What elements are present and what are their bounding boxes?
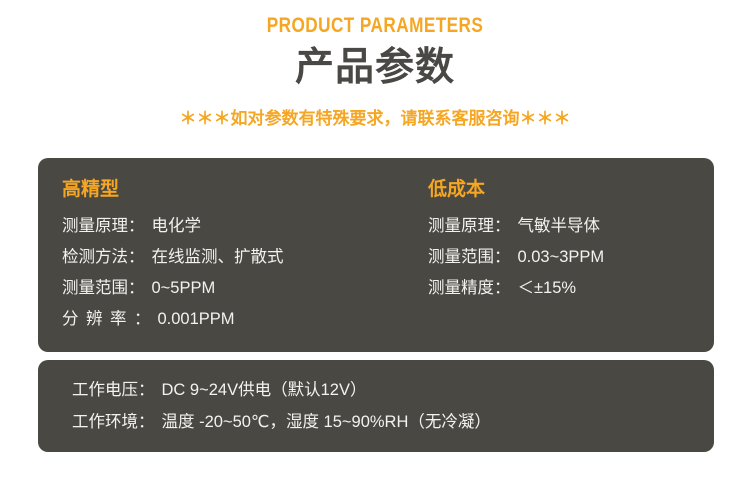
column-heading-low-cost: 低成本 xyxy=(428,177,714,203)
spec-label: 测量范围 xyxy=(428,242,494,273)
spec-value: DC 9~24V供电（默认12V） xyxy=(162,374,367,406)
spec-label: 测量原理 xyxy=(62,211,128,242)
spec-value: ＜±15% xyxy=(518,273,577,304)
spec-label: 分辨率 xyxy=(62,304,134,335)
spec-value: 在线监测、扩散式 xyxy=(152,242,284,273)
spec-value: 0~5PPM xyxy=(152,273,216,304)
spec-colon: ： xyxy=(128,211,152,242)
column-heading-high-precision: 高精型 xyxy=(62,177,428,203)
spec-label: 工作电压 xyxy=(72,374,138,406)
page-header: PRODUCT PARAMETERS 产品参数 ＊＊＊如对参数有特殊要求，请联系… xyxy=(0,0,750,130)
spec-row: 工作环境 ： 温度 -20~50℃，湿度 15~90%RH（无冷凝） xyxy=(72,406,714,438)
spec-value: 温度 -20~50℃，湿度 15~90%RH（无冷凝） xyxy=(162,406,491,438)
spec-colon: ： xyxy=(128,242,152,273)
spec-colon: ： xyxy=(494,242,518,273)
specs-panel: 高精型 测量原理 ： 电化学 检测方法 ： 在线监测、扩散式 测量范围 ： 0~… xyxy=(38,158,714,352)
spec-row: 检测方法 ： 在线监测、扩散式 xyxy=(62,242,428,273)
spec-value: 电化学 xyxy=(152,211,202,242)
page-title: 产品参数 xyxy=(0,44,750,92)
specs-column-high-precision: 高精型 测量原理 ： 电化学 检测方法 ： 在线监测、扩散式 测量范围 ： 0~… xyxy=(38,158,428,352)
spec-colon: ： xyxy=(138,374,162,406)
spec-row: 工作电压 ： DC 9~24V供电（默认12V） xyxy=(72,374,714,406)
spec-row: 测量原理 ： 气敏半导体 xyxy=(428,211,714,242)
spec-colon: ： xyxy=(494,211,518,242)
spec-colon: ： xyxy=(128,273,152,304)
spec-value: 0.001PPM xyxy=(158,304,235,335)
spec-row: 测量原理 ： 电化学 xyxy=(62,211,428,242)
spec-label: 测量范围 xyxy=(62,273,128,304)
spec-label: 测量精度 xyxy=(428,273,494,304)
spec-colon: ： xyxy=(134,304,158,335)
spec-value: 气敏半导体 xyxy=(518,211,601,242)
spec-label: 测量原理 xyxy=(428,211,494,242)
spec-row: 测量范围 ： 0.03~3PPM xyxy=(428,242,714,273)
spec-row: 测量精度 ： ＜±15% xyxy=(428,273,714,304)
spec-colon: ： xyxy=(494,273,518,304)
spec-label: 工作环境 xyxy=(72,406,138,438)
header-eyebrow: PRODUCT PARAMETERS xyxy=(68,14,683,38)
general-conditions-list: 工作电压 ： DC 9~24V供电（默认12V） 工作环境 ： 温度 -20~5… xyxy=(38,360,714,438)
specs-column-low-cost: 低成本 测量原理 ： 气敏半导体 测量范围 ： 0.03~3PPM 测量精度 ：… xyxy=(428,158,714,352)
header-note: ＊＊＊如对参数有特殊要求，请联系客服咨询＊＊＊ xyxy=(0,108,750,130)
general-conditions-panel: 工作电压 ： DC 9~24V供电（默认12V） 工作环境 ： 温度 -20~5… xyxy=(38,360,714,452)
spec-row: 测量范围 ： 0~5PPM xyxy=(62,273,428,304)
specs-columns: 高精型 测量原理 ： 电化学 检测方法 ： 在线监测、扩散式 测量范围 ： 0~… xyxy=(38,158,714,352)
spec-row: 分辨率 ： 0.001PPM xyxy=(62,304,428,335)
spec-label: 检测方法 xyxy=(62,242,128,273)
spec-colon: ： xyxy=(138,406,162,438)
spec-value: 0.03~3PPM xyxy=(518,242,605,273)
